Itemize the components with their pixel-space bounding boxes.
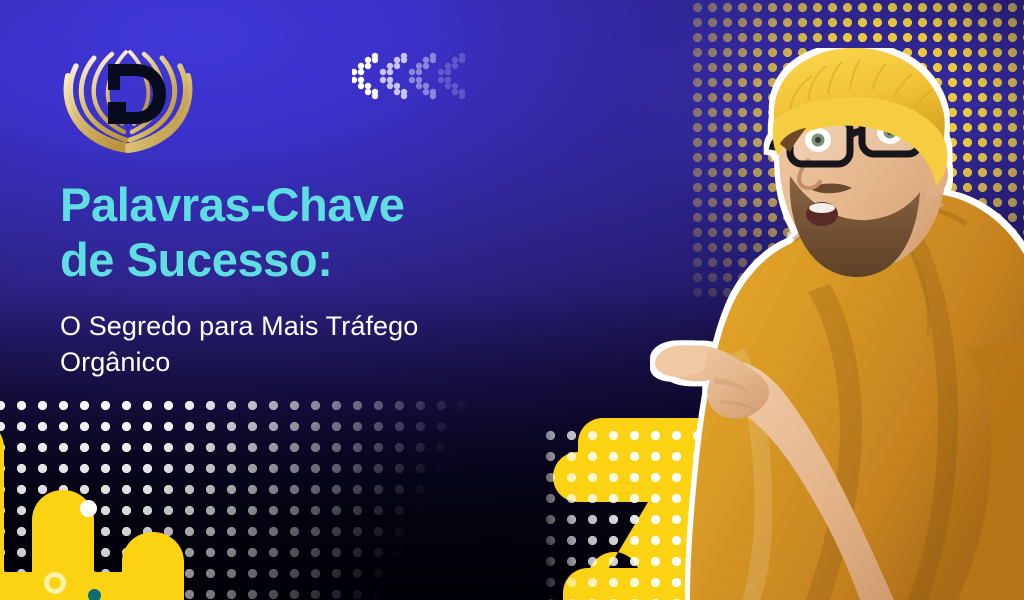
headline: Palavras-Chave de Sucesso: [60,178,580,287]
subheadline: O Segredo para Mais Tráfego Orgânico [60,309,580,381]
index-finger [655,345,706,377]
accent-ring-yellow [44,572,66,594]
promo-banner: Palavras-Chave de Sucesso: O Segredo par… [0,0,1024,600]
accent-dot-teal [88,589,101,600]
chevron-left-halftone [352,52,470,106]
brand-logo[interactable] [52,28,204,154]
logo-monogram [108,64,166,124]
accent-dot-white [80,500,97,517]
pointing-man-photo [594,48,1024,600]
banner-copy: Palavras-Chave de Sucesso: O Segredo par… [60,178,580,381]
yellow-hand-blob-left [0,412,224,600]
